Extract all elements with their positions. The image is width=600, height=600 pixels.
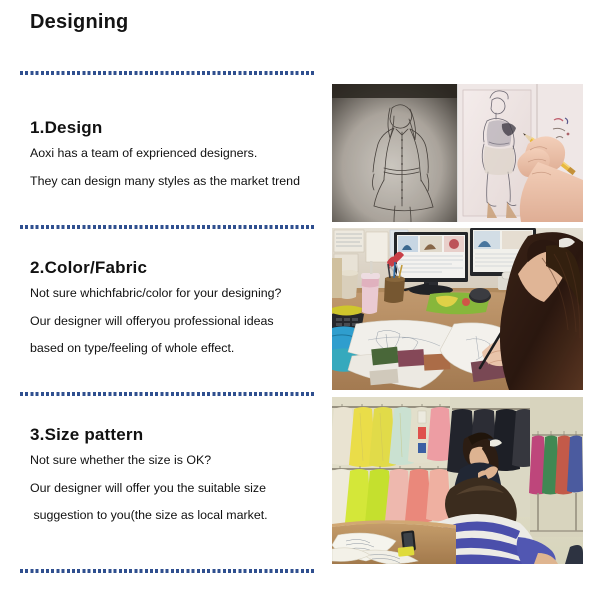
photo-showroom-size-review — [332, 397, 583, 564]
designing-page: Designing 1.Design Aoxi has a team of ex… — [0, 0, 600, 600]
divider-after-design — [20, 225, 316, 229]
photo-designer-at-desk — [332, 228, 583, 390]
divider-top — [20, 71, 316, 75]
section-line: Our designer will offeryou professional … — [30, 315, 330, 327]
section-heading: 2.Color/Fabric — [30, 258, 330, 278]
section-line: suggestion to you(the size as local mark… — [30, 509, 330, 521]
page-title: Designing — [30, 11, 128, 34]
section-line: Our designer will offer you the suitable… — [30, 482, 330, 494]
section-design: 1.Design Aoxi has a team of exprienced d… — [30, 118, 330, 187]
photo-design-sketches — [332, 84, 583, 222]
section-line: Not sure whether the size is OK? — [30, 454, 330, 466]
section-heading: 1.Design — [30, 118, 330, 138]
divider-bottom — [20, 569, 316, 573]
section-line: They can design many styles as the marke… — [30, 175, 330, 187]
section-color-fabric: 2.Color/Fabric Not sure whichfabric/colo… — [30, 258, 330, 355]
section-line: Aoxi has a team of exprienced designers. — [30, 147, 330, 159]
section-line: based on type/feeling of whole effect. — [30, 342, 330, 354]
section-size-pattern: 3.Size pattern Not sure whether the size… — [30, 425, 330, 522]
section-heading: 3.Size pattern — [30, 425, 330, 445]
divider-after-color-fabric — [20, 392, 316, 396]
section-line: Not sure whichfabric/color for your desi… — [30, 287, 330, 299]
